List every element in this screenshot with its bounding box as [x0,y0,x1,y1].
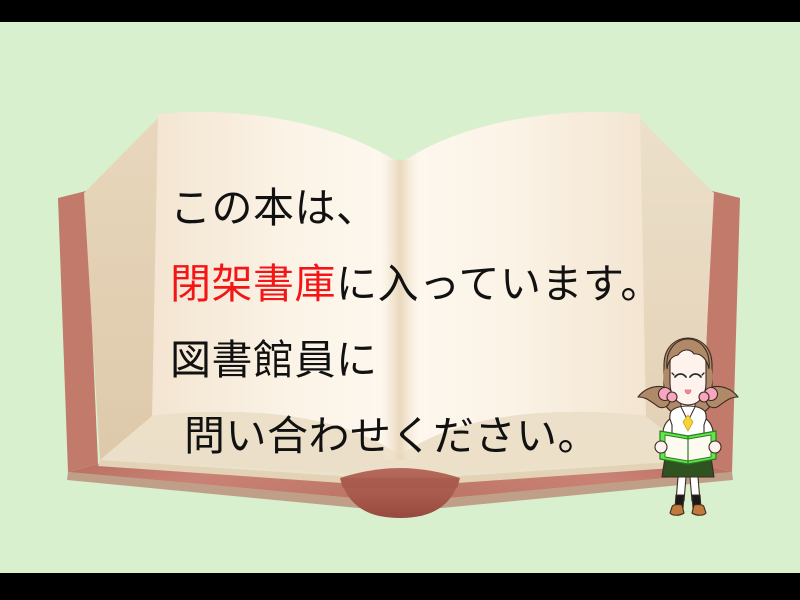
slide-stage: この本は、 閉架書庫に入っています。 図書館員に 問い合わせください。 [0,22,800,573]
letterbox-top [0,0,800,22]
line1-text: この本は、 [170,184,378,232]
left-hand-icon [655,441,667,453]
line2-suffix: に入っています。 [336,260,662,308]
slide-canvas: この本は、 閉架書庫に入っています。 図書館員に 問い合わせください。 [0,0,800,600]
right-shoe-icon [692,505,706,516]
message-line-1: この本は、 [170,170,730,246]
line2-highlight: 閉架書庫 [170,260,336,308]
message-line-2: 閉架書庫に入っています。 [170,246,730,322]
open-book-illustration: この本は、 閉架書庫に入っています。 図書館員に 問い合わせください。 [40,60,762,520]
line3-text: 図書館員に [170,336,378,384]
girl-reading-illustration [634,335,742,521]
line4-text: 問い合わせください。 [184,412,599,460]
girl-vector [634,335,742,521]
letterbox-bottom [0,573,800,600]
left-shoe-icon [670,505,684,516]
right-hand-icon [709,441,721,453]
